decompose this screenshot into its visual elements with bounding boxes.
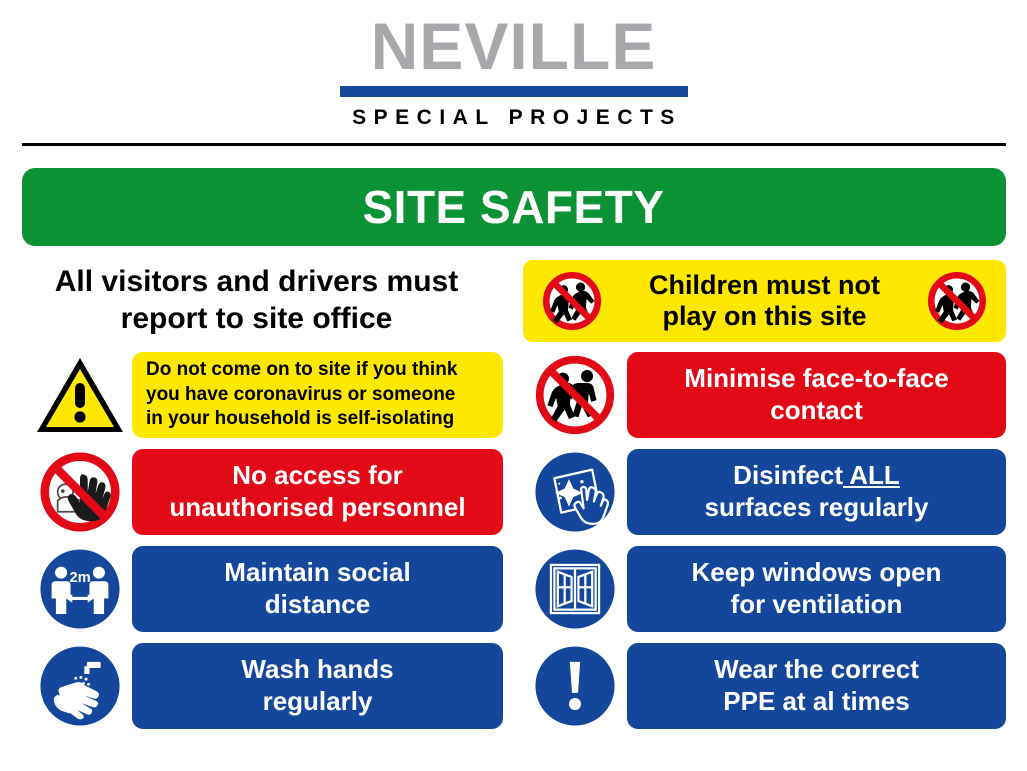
no-face-to-face-icon	[523, 351, 627, 439]
content-columns: All visitors and drivers must report to …	[0, 260, 1027, 730]
disinfect-surfaces-box: Disinfect ALL surfaces regularly	[627, 449, 1006, 535]
face-to-face-box: Minimise face-to-face contact	[627, 352, 1006, 438]
exclamation-mandatory-icon	[523, 642, 627, 730]
disinfect-surfaces-icon	[523, 448, 627, 536]
open-window-icon	[523, 545, 627, 633]
row-windows-open: Keep windows open for ventilation	[523, 545, 1006, 633]
no-children-playing-icon	[539, 268, 605, 334]
no-access-line-2: unauthorised personnel	[169, 492, 465, 523]
coronavirus-line-2: you have coronavirus or someone	[146, 383, 457, 407]
windows-line-1: Keep windows open	[692, 557, 942, 588]
social-distance-2m-icon: 2m	[28, 545, 132, 633]
children-banner-text: Children must not play on this site	[605, 270, 924, 332]
ppe-line-2: PPE at al times	[714, 686, 919, 717]
ppe-box: Wear the correct PPE at al times	[627, 643, 1006, 729]
no-access-line-1: No access for	[169, 460, 465, 491]
disinfect-all-underlined: ALL	[843, 460, 900, 490]
wash-hands-box: Wash hands regularly	[132, 643, 503, 729]
site-safety-title: SITE SAFETY	[363, 180, 665, 234]
row-ppe: Wear the correct PPE at al times	[523, 642, 1006, 730]
svg-text:2m: 2m	[69, 570, 90, 586]
row-disinfect-surfaces: Disinfect ALL surfaces regularly	[523, 448, 1006, 536]
children-line-2: play on this site	[662, 301, 866, 331]
logo-subtitle: SPECIAL PROJECTS	[345, 106, 682, 130]
no-entry-hand-icon	[28, 448, 132, 536]
ppe-line-1: Wear the correct	[714, 654, 919, 685]
site-safety-banner: SITE SAFETY	[22, 168, 1006, 246]
social-distance-line-1: Maintain social	[224, 557, 410, 588]
logo-blue-rule	[340, 86, 688, 97]
row-social-distance: 2m Maintain social distance	[28, 545, 503, 633]
coronavirus-line-3: in your household is self-isolating	[146, 407, 457, 431]
logo-wordmark: NEVILLE	[371, 14, 657, 79]
disinfect-word: Disinfect	[733, 460, 843, 490]
wash-hands-line-1: Wash hands	[241, 654, 393, 685]
company-logo: NEVILLE SPECIAL PROJECTS	[0, 0, 1027, 130]
windows-line-2: for ventilation	[692, 589, 942, 620]
disinfect-line-2: surfaces regularly	[704, 492, 928, 523]
row-coronavirus-notice: Do not come on to site if you think you …	[28, 351, 503, 439]
left-column: All visitors and drivers must report to …	[0, 260, 513, 730]
children-banner: Children must not play on this site	[523, 260, 1006, 342]
social-distance-line-2: distance	[224, 589, 410, 620]
no-children-playing-icon-right	[924, 268, 990, 334]
wash-hands-icon	[28, 642, 132, 730]
coronavirus-notice-box: Do not come on to site if you think you …	[132, 352, 503, 438]
children-line-1: Children must not	[649, 270, 880, 300]
no-access-box: No access for unauthorised personnel	[132, 449, 503, 535]
row-wash-hands: Wash hands regularly	[28, 642, 503, 730]
row-no-access: No access for unauthorised personnel	[28, 448, 503, 536]
visitors-heading: All visitors and drivers must report to …	[28, 260, 503, 342]
wash-hands-line-2: regularly	[241, 686, 393, 717]
header-divider	[22, 143, 1006, 146]
disinfect-line-1: Disinfect ALL	[704, 460, 928, 491]
windows-open-box: Keep windows open for ventilation	[627, 546, 1006, 632]
warning-triangle-icon	[28, 351, 132, 439]
face-to-face-line-2: contact	[684, 395, 948, 426]
right-column: Children must not play on this site	[513, 260, 1026, 730]
social-distance-box: Maintain social distance	[132, 546, 503, 632]
face-to-face-line-1: Minimise face-to-face	[684, 363, 948, 394]
row-face-to-face: Minimise face-to-face contact	[523, 351, 1006, 439]
coronavirus-line-1: Do not come on to site if you think	[146, 358, 457, 382]
